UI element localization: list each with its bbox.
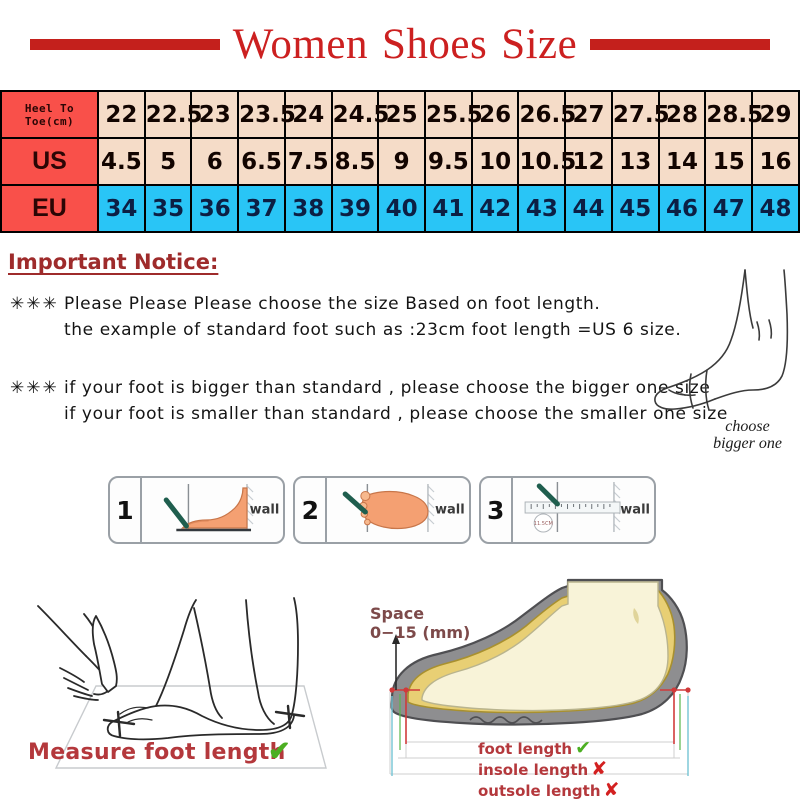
cell-heel-11: 27.5 [612, 91, 659, 138]
cell-heel-10: 27 [565, 91, 612, 138]
length-measure-labels: foot length✔ insole length✘ outsole leng… [478, 738, 619, 801]
cell-eu-6: 40 [378, 185, 425, 232]
cell-us-11: 13 [612, 138, 659, 185]
length-row-foot: foot length✔ [478, 738, 619, 759]
cell-heel-13: 28.5 [705, 91, 752, 138]
row-label-us: US [1, 138, 98, 185]
cell-heel-8: 26 [472, 91, 519, 138]
cell-heel-7: 25.5 [425, 91, 472, 138]
measure-foot-caption: Measure foot length [28, 740, 286, 765]
notice-line-2: the example of standard foot such as :23… [10, 317, 681, 343]
cell-eu-7: 41 [425, 185, 472, 232]
cell-eu-12: 46 [659, 185, 706, 232]
cell-heel-1: 22.5 [145, 91, 192, 138]
cell-us-14: 16 [752, 138, 799, 185]
foot-side-sketch-icon [645, 262, 800, 422]
length-label-insole: insole length [478, 761, 588, 779]
cell-heel-4: 24 [285, 91, 332, 138]
row-label-heel-to-toe: Heel To Toe(cm) [1, 91, 98, 138]
space-label-line-1: Space [370, 604, 424, 623]
cell-us-2: 6 [191, 138, 238, 185]
step-wall-label-3: wall [620, 503, 650, 518]
length-label-foot: foot length [478, 740, 572, 758]
title-word-3: Size [501, 21, 577, 68]
cell-eu-11: 45 [612, 185, 659, 232]
row-label-eu: EU [1, 185, 98, 232]
sketch-caption-line-2: bigger one [713, 435, 782, 452]
step-wall-label-1: wall [250, 503, 280, 518]
important-notice-heading: Important Notice: [8, 250, 218, 274]
cell-us-4: 7.5 [285, 138, 332, 185]
cell-eu-5: 39 [332, 185, 379, 232]
notice-text-4: if your foot is smaller than standard , … [64, 404, 728, 424]
cell-heel-9: 26.5 [518, 91, 565, 138]
sketch-caption: choose bigger one [690, 418, 800, 452]
cell-heel-12: 28 [659, 91, 706, 138]
cell-eu-9: 43 [518, 185, 565, 232]
cell-heel-14: 29 [752, 91, 799, 138]
cell-eu-13: 47 [705, 185, 752, 232]
step-number-3: 3 [481, 478, 513, 542]
notice-paragraph-1: ✳✳✳Please Please Please choose the size … [10, 291, 681, 343]
cell-eu-10: 44 [565, 185, 612, 232]
cell-heel-5: 24.5 [332, 91, 379, 138]
step-wall-label-2: wall [435, 503, 465, 518]
cell-us-3: 6.5 [238, 138, 285, 185]
page-title-row: WomenShoesSize [0, 18, 800, 70]
title-bar-right [590, 39, 770, 50]
outsole-length-cross-icon: ✘ [604, 779, 620, 801]
step-number-2: 2 [295, 478, 327, 542]
notice-text-2: the example of standard foot such as :23… [64, 320, 681, 340]
table-row-eu: EU 34 35 36 37 38 39 40 41 42 43 44 45 4… [1, 185, 799, 232]
table-row-heel-to-toe: Heel To Toe(cm) 22 22.5 23 23.5 24 24.5 … [1, 91, 799, 138]
step-art-2: wall [327, 478, 468, 542]
cell-us-13: 15 [705, 138, 752, 185]
space-gap-label: Space 0−15 (mm) [370, 604, 470, 642]
cell-us-9: 10.5 [518, 138, 565, 185]
length-row-insole: insole length✘ [478, 759, 619, 780]
ruler-badge-text: 11.5CM [533, 521, 552, 527]
step-panel-2: 2 wall [293, 476, 470, 544]
cell-eu-2: 36 [191, 185, 238, 232]
cell-eu-0: 34 [98, 185, 145, 232]
cell-us-8: 10 [472, 138, 519, 185]
insole-length-cross-icon: ✘ [591, 758, 607, 780]
table-row-us: US 4.5 5 6 6.5 7.5 8.5 9 9.5 10 10.5 12 … [1, 138, 799, 185]
step-panel-3: 3 [479, 476, 656, 544]
cell-eu-4: 38 [285, 185, 332, 232]
space-label-line-2: 0−15 (mm) [370, 623, 470, 642]
notice-text-3: if your foot is bigger than standard , p… [64, 378, 710, 398]
cell-heel-2: 23 [191, 91, 238, 138]
cell-eu-1: 35 [145, 185, 192, 232]
title-word-2: Shoes [382, 21, 487, 68]
sketch-caption-line-1: choose [725, 418, 769, 435]
cell-us-6: 9 [378, 138, 425, 185]
asterisk-marker-2-icon: ✳✳✳ [10, 375, 64, 401]
step-art-3: 11.5CM wall [513, 478, 654, 542]
length-label-outsole: outsole length [478, 782, 601, 800]
notice-line-4: if your foot is smaller than standard , … [10, 401, 728, 427]
cell-eu-14: 48 [752, 185, 799, 232]
cell-us-1: 5 [145, 138, 192, 185]
step-panel-1: 1 wall [108, 476, 285, 544]
notice-text-1: Please Please Please choose the size Bas… [64, 294, 600, 314]
cell-heel-6: 25 [378, 91, 425, 138]
cell-heel-0: 22 [98, 91, 145, 138]
notice-line-1: ✳✳✳Please Please Please choose the size … [10, 291, 681, 317]
title-word-1: Women [233, 21, 368, 68]
cell-us-5: 8.5 [332, 138, 379, 185]
measure-steps: 1 wall 2 [108, 476, 656, 544]
notice-paragraph-2: ✳✳✳if your foot is bigger than standard … [10, 375, 728, 427]
cell-us-12: 14 [659, 138, 706, 185]
foot-length-check-icon: ✔ [575, 737, 591, 759]
notice-line-3: ✳✳✳if your foot is bigger than standard … [10, 375, 728, 401]
asterisk-marker-icon: ✳✳✳ [10, 291, 64, 317]
step-number-1: 1 [110, 478, 142, 542]
cell-eu-8: 42 [472, 185, 519, 232]
title-bar-left [30, 39, 220, 50]
cell-us-0: 4.5 [98, 138, 145, 185]
cell-us-7: 9.5 [425, 138, 472, 185]
step-art-1: wall [142, 478, 283, 542]
cell-eu-3: 37 [238, 185, 285, 232]
page-title: WomenShoesSize [226, 23, 584, 66]
size-chart-table: Heel To Toe(cm) 22 22.5 23 23.5 24 24.5 … [0, 90, 800, 233]
cell-us-10: 12 [565, 138, 612, 185]
length-row-outsole: outsole length✘ [478, 780, 619, 801]
measure-check-icon: ✔ [268, 736, 291, 767]
cell-heel-3: 23.5 [238, 91, 285, 138]
